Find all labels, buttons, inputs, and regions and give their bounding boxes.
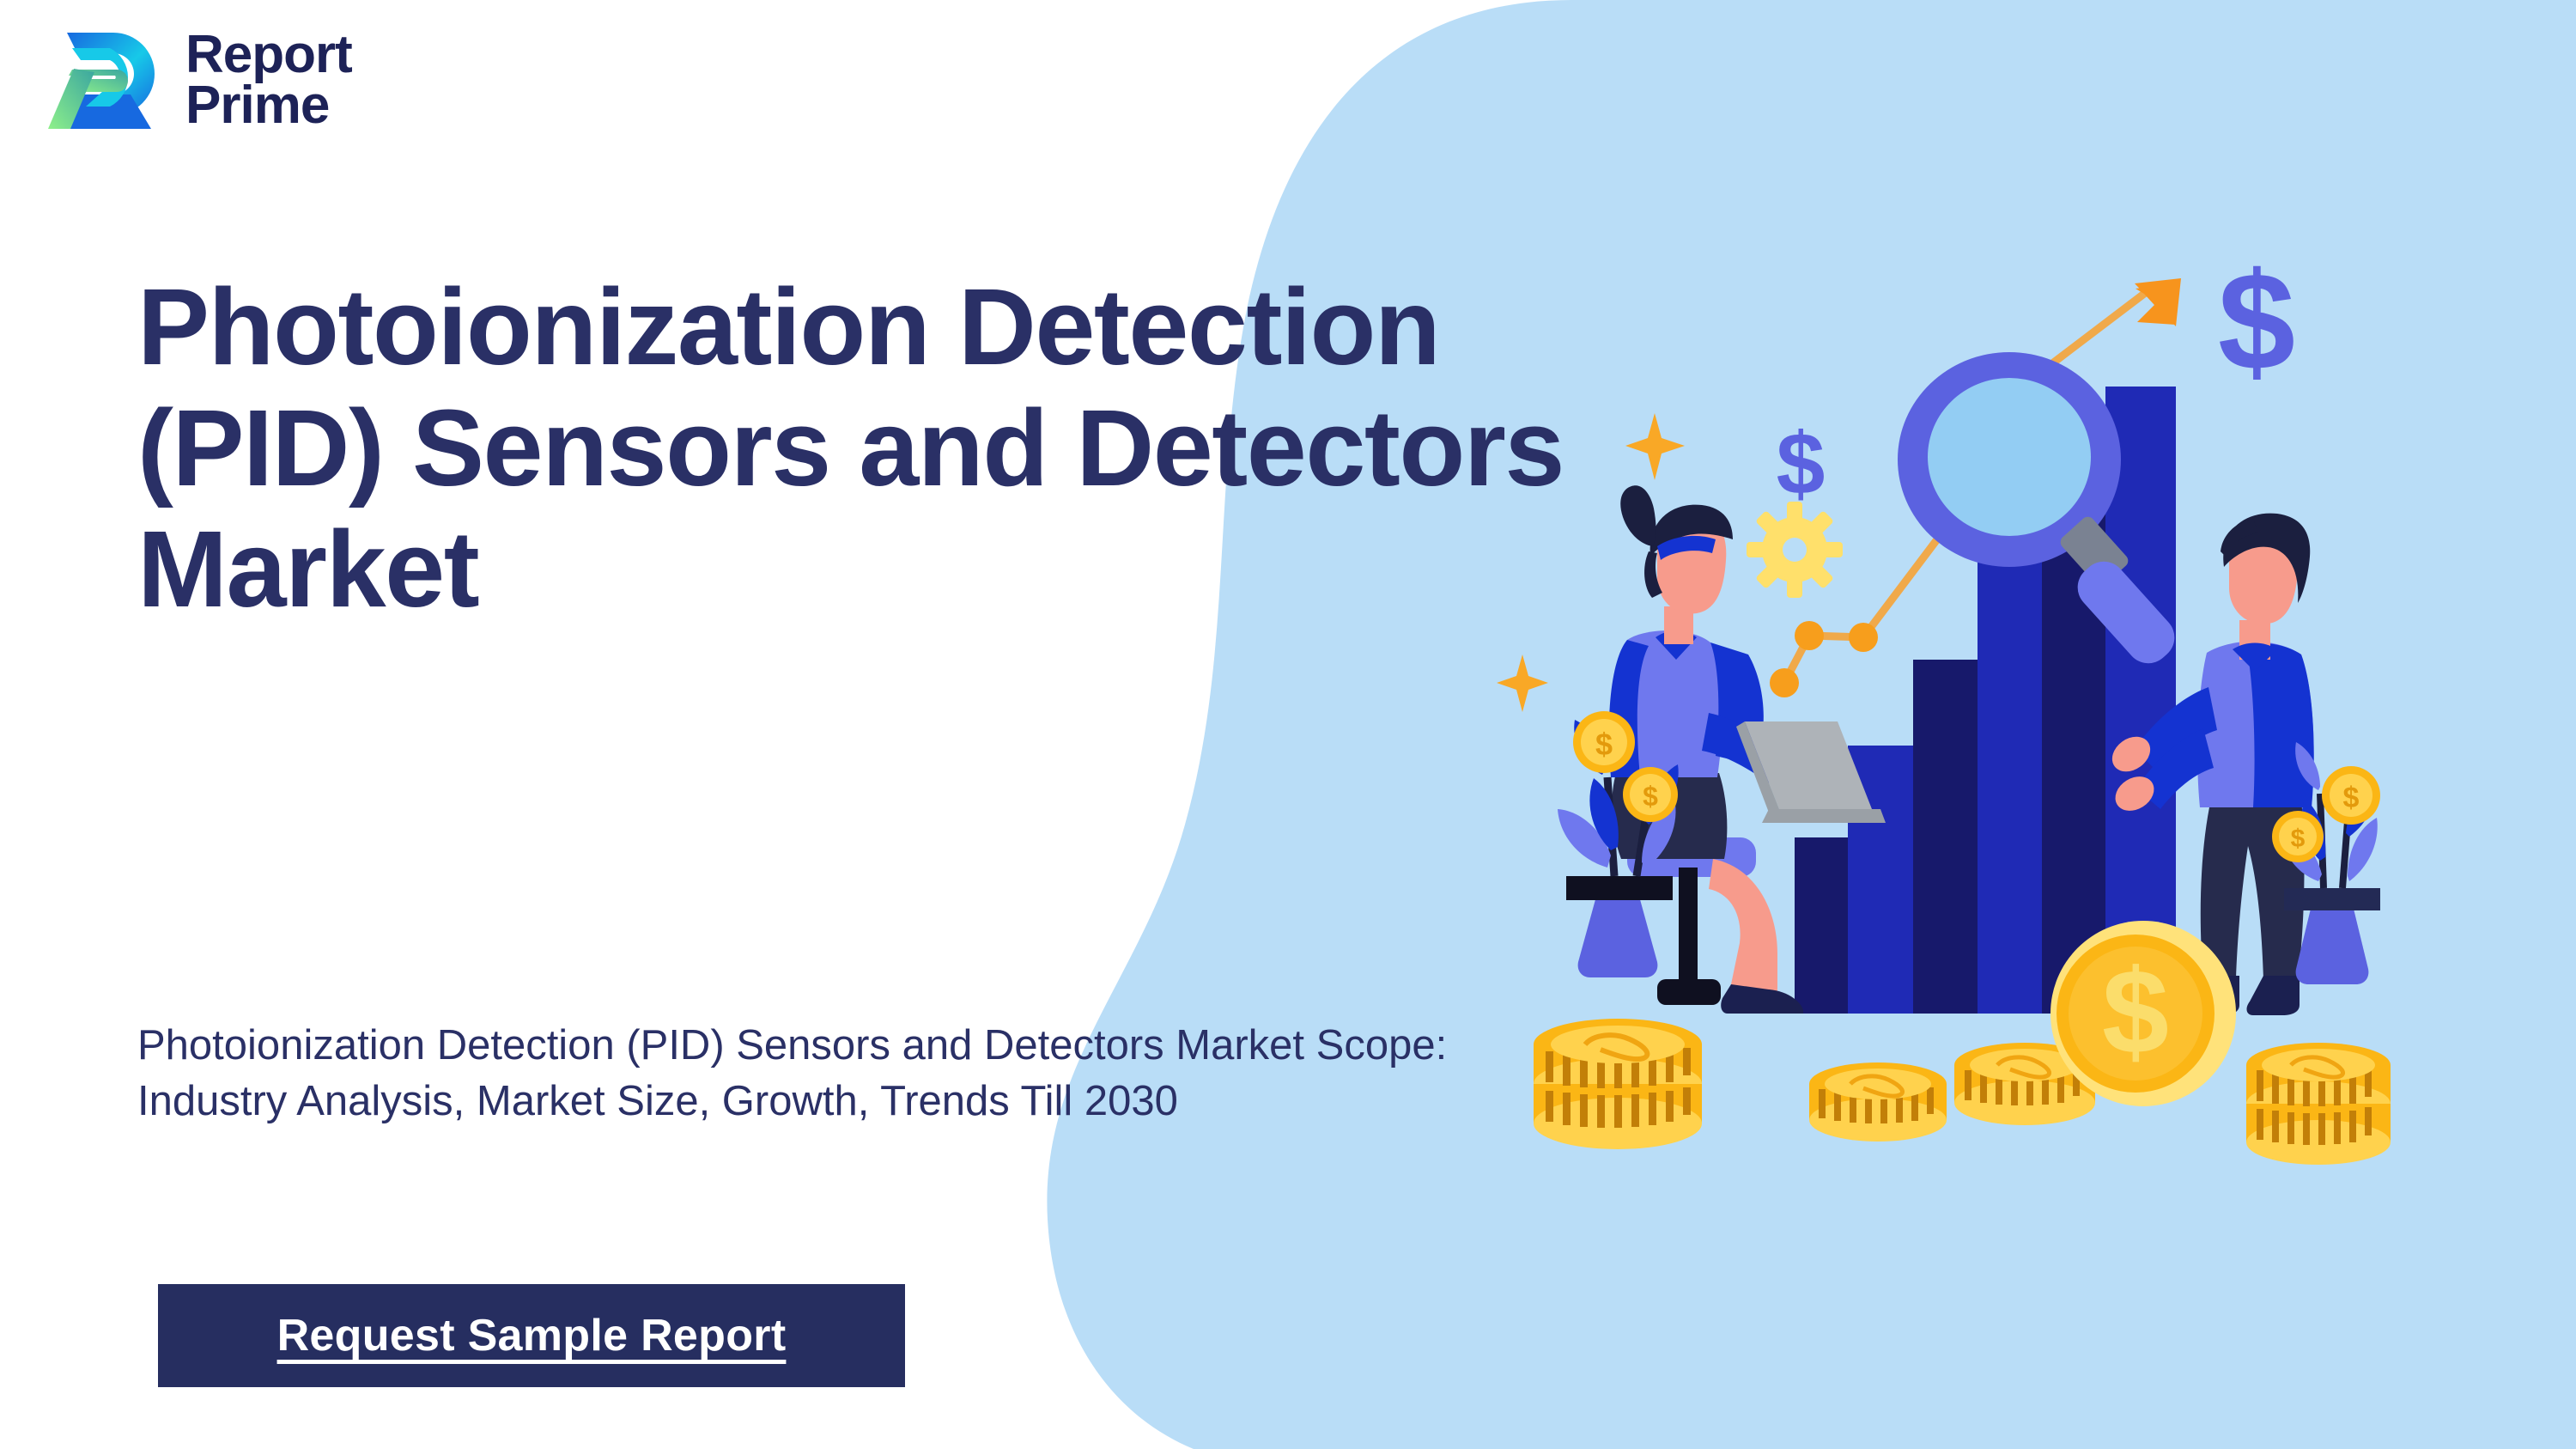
page-title: Photoionization Detection (PID) Sensors … xyxy=(137,266,1666,630)
brand-name-line2: Prime xyxy=(185,81,352,131)
page-subtitle: Photoionization Detection (PID) Sensors … xyxy=(137,1018,1597,1129)
report-prime-r-logo-icon xyxy=(34,22,163,138)
brand-wordmark: Report Prime xyxy=(185,30,352,131)
report-banner: $ $ xyxy=(0,0,2576,1449)
brand-name-line1: Report xyxy=(185,30,352,80)
request-sample-report-button[interactable]: Request Sample Report xyxy=(158,1284,905,1387)
blue-background-panel xyxy=(0,0,2576,1449)
request-sample-report-label: Request Sample Report xyxy=(277,1310,787,1361)
brand-logo[interactable]: Report Prime xyxy=(34,22,352,138)
